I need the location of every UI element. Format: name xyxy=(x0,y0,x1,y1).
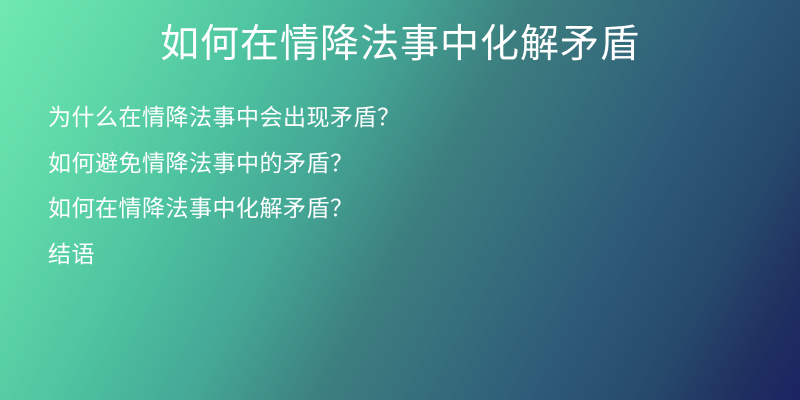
page-title: 如何在情降法事中化解矛盾 xyxy=(0,22,800,68)
outline-item-1: 为什么在情降法事中会出现矛盾？ xyxy=(48,96,752,142)
outline-item-4: 结语 xyxy=(48,233,752,279)
outline-item-2: 如何避免情降法事中的矛盾？ xyxy=(48,142,752,188)
poster-canvas: 如何在情降法事中化解矛盾 为什么在情降法事中会出现矛盾？ 如何避免情降法事中的矛… xyxy=(0,0,800,400)
outline-list: 为什么在情降法事中会出现矛盾？ 如何避免情降法事中的矛盾？ 如何在情降法事中化解… xyxy=(48,96,752,278)
title-block: 如何在情降法事中化解矛盾 xyxy=(0,22,800,68)
outline-item-3: 如何在情降法事中化解矛盾？ xyxy=(48,187,752,233)
